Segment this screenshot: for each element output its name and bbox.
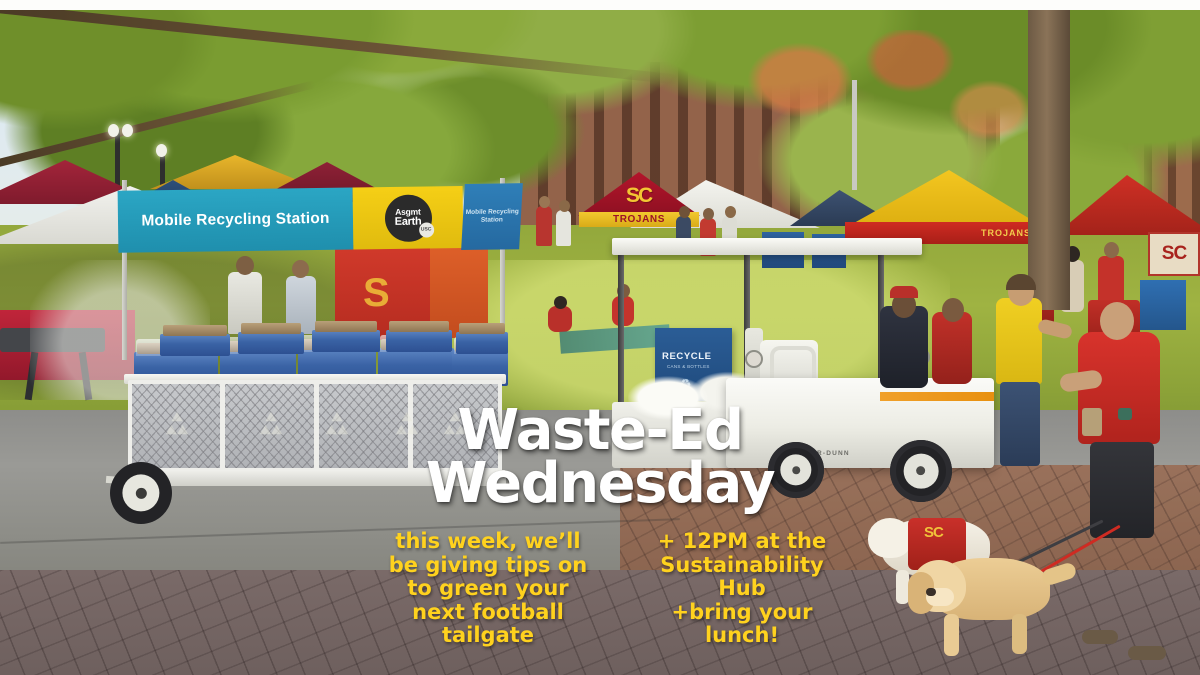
trailer-wheel-rim: [122, 474, 159, 511]
crowd-person-4-head: [725, 206, 736, 218]
banner-side-text: Mobile Recycling Station: [463, 208, 522, 225]
cart-wheel-front-hub: [904, 454, 939, 489]
trailer-bin-8: [312, 330, 380, 352]
trailer-wheel: [110, 462, 172, 524]
cart-canopy-roof: [612, 238, 922, 255]
banner-main-text: Mobile Recycling Station: [141, 210, 329, 231]
trojans-sc-logo: SC: [626, 184, 651, 208]
dog-spaniel-leg-b: [1012, 614, 1027, 654]
trailer-bin-7: [238, 332, 304, 354]
cart-wheel-front: [890, 440, 952, 502]
recycle-arrows-icon-4: [392, 410, 422, 438]
crowd-person-5-head: [679, 206, 690, 218]
trailer-bin-9: [386, 330, 452, 352]
sc-banner-right-label: SC: [1162, 243, 1186, 265]
lamp-head-left-b: [122, 124, 133, 137]
dog-poodle-vest-sc-icon: SC: [924, 524, 943, 541]
crowd-person-7: [548, 306, 572, 332]
sc-mark-side-banner: S: [363, 271, 390, 316]
banner-logo-panel: Asgmt Earth USC: [353, 186, 464, 250]
trojans-tent-label: TROJANS: [613, 214, 665, 225]
trailer-bin-8-content: [315, 321, 377, 332]
asgmt-logo-line2: Earth: [395, 217, 422, 228]
walker-yellow-body: [996, 298, 1042, 384]
usc-badge-icon: USC: [419, 222, 434, 237]
cart-driver-cap-icon: [890, 286, 918, 298]
recycle-arrows-icon-1: [162, 410, 192, 438]
yellow-tent-roof: [845, 170, 1045, 228]
trailer-panel-divider-2: [314, 380, 319, 472]
lamp-head-left-a: [108, 124, 119, 137]
trailer-bin-7-content: [241, 323, 301, 334]
walker-red-sandal-b: [1128, 646, 1166, 660]
trailer-bin-6-content: [163, 325, 227, 336]
banner-main-panel: Mobile Recycling Station: [118, 188, 354, 253]
banner-side-panel: Mobile Recycling Station: [461, 183, 523, 250]
crowd-person-2: [556, 210, 571, 246]
tailgater-right-1-head: [1104, 242, 1119, 258]
trailer-bin-10-content: [459, 323, 505, 334]
trailer-bin-6: [160, 334, 230, 356]
recycle-arrows-icon-3: [322, 410, 352, 438]
crowd-person-3-head: [703, 208, 714, 220]
walker-red-lanyard-icon: [1082, 408, 1102, 436]
walker-yellow-legs: [1000, 382, 1040, 466]
crowd-person-1: [536, 206, 552, 246]
cart-wheel-rear-hub: [780, 454, 811, 485]
cart-accent-stripe: [880, 392, 994, 401]
yellow-tent-leg-left: [852, 80, 857, 190]
walker-red-head: [1100, 302, 1134, 340]
person-left-cook-head: [236, 256, 254, 275]
crowd-person-1-head: [539, 196, 550, 208]
crowd-person-7-head: [554, 296, 567, 309]
trailer-bin-10: [456, 332, 508, 354]
asgmt-logo-line1: Asgmt: [395, 207, 421, 216]
cart-gauge-a: [745, 350, 763, 368]
asgmt-earth-logo: Asgmt Earth USC: [384, 194, 432, 242]
cart-wheel-rear: [768, 442, 824, 498]
top-white-band: [0, 0, 1200, 10]
sc-banner-right: SC: [1148, 232, 1200, 276]
recycle-bin-sublabel: CANS & BOTTLES: [667, 364, 710, 369]
recycle-arrows-icon-5: [440, 410, 470, 438]
recycle-arrows-icon-2: [256, 410, 286, 438]
lamp-head-mid: [156, 144, 167, 157]
cart-passenger-head: [942, 298, 964, 322]
yellow-tent-label: TROJANS: [981, 228, 1031, 238]
poster-canvas: S Mobile Recycling Station Asgmt Earth U…: [0, 0, 1200, 675]
tree-canopy-autumn: [740, 30, 1060, 180]
walker-red-watch-icon: [1118, 408, 1132, 420]
dog-spaniel-leg-a: [944, 614, 959, 656]
walker-red-sandal-a: [1082, 630, 1118, 644]
mobile-recycling-trailer: [120, 328, 510, 503]
cart-driver-body: [880, 306, 928, 388]
dog-poodle-head: [868, 518, 912, 558]
tree-trunk-right: [1028, 10, 1070, 310]
recycle-bin-label: RECYCLE: [662, 351, 712, 362]
photo-scene: S Mobile Recycling Station Asgmt Earth U…: [0, 10, 1200, 675]
mobile-recycling-banner: Mobile Recycling Station Asgmt Earth USC…: [118, 185, 519, 253]
person-left-visitor-head: [292, 260, 309, 278]
trailer-bin-9-content: [389, 321, 449, 332]
trailer-lower-sill: [124, 470, 506, 486]
dog-spaniel-nose-icon: [926, 588, 936, 596]
blue-flag-right: [1140, 280, 1186, 330]
cart-grab-rail: [770, 346, 816, 380]
trailer-panel-divider-1: [220, 380, 225, 472]
cart-passenger-body: [932, 312, 972, 384]
crowd-person-2-head: [559, 200, 570, 212]
